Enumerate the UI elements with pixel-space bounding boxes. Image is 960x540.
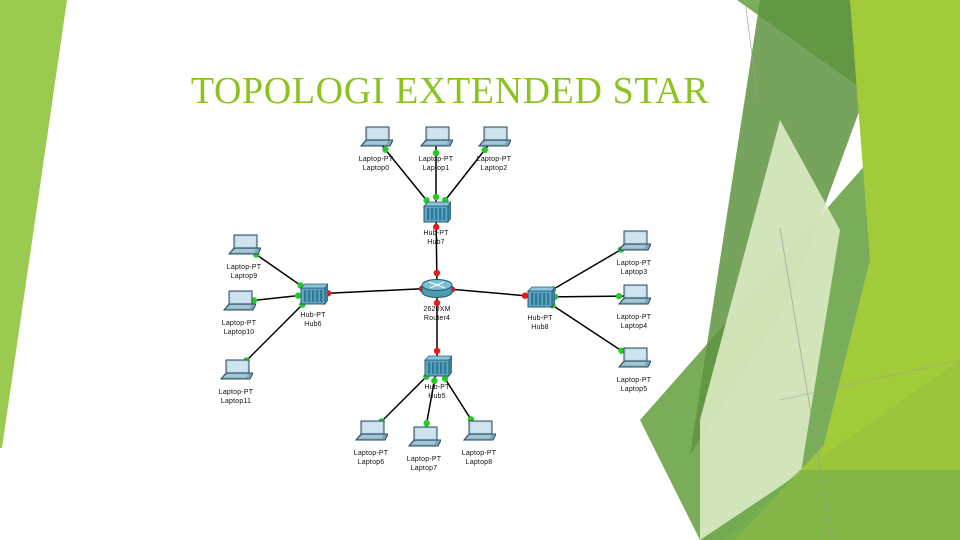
bottom-right-green-polygon	[700, 360, 960, 540]
laptop-icon	[462, 415, 496, 449]
device-model-label: Hub-PT	[497, 315, 583, 324]
device-model-label: Laptop-PT	[201, 264, 287, 273]
device-name-label: Laptop10	[196, 329, 282, 338]
device-name-label: Hub8	[497, 324, 583, 333]
laptop-icon	[617, 342, 651, 376]
device-node-laptop5[interactable]: Laptop-PTLaptop5	[591, 342, 677, 394]
device-name-label: Laptop4	[591, 323, 677, 332]
bottom-edge-green-polygon	[725, 470, 960, 540]
device-model-label: 2620XM	[394, 306, 480, 315]
laptop-icon	[617, 279, 651, 313]
device-node-laptop3[interactable]: Laptop-PTLaptop3	[591, 225, 677, 277]
device-model-label: Hub-PT	[270, 312, 356, 321]
device-model-label: Laptop-PT	[193, 389, 279, 398]
bottom-right-light-polygon	[735, 300, 960, 540]
device-name-label: Laptop11	[193, 398, 279, 407]
hub-icon	[422, 349, 452, 383]
device-model-label: Hub-PT	[394, 384, 480, 393]
device-name-label: Hub6	[270, 321, 356, 330]
device-name-label: Hub5	[394, 393, 480, 402]
device-model-label: Laptop-PT	[591, 260, 677, 269]
laptop-icon	[419, 121, 453, 155]
device-node-laptop4[interactable]: Laptop-PTLaptop4	[591, 279, 677, 331]
device-model-label: Laptop-PT	[591, 314, 677, 323]
hub-icon	[421, 195, 451, 229]
device-model-label: Laptop-PT	[436, 450, 522, 459]
laptop-icon	[227, 229, 261, 263]
thin-accent-line-2	[780, 228, 832, 540]
laptop-icon	[219, 354, 253, 388]
device-node-hub6[interactable]: Hub-PTHub6	[270, 277, 356, 329]
device-node-laptop2[interactable]: Laptop-PTLaptop2	[451, 121, 537, 173]
device-name-label: Laptop2	[451, 165, 537, 174]
device-node-router4[interactable]: 2620XMRouter4	[394, 271, 480, 323]
device-name-label: Laptop3	[591, 269, 677, 278]
device-node-laptop9[interactable]: Laptop-PTLaptop9	[201, 229, 287, 281]
device-node-hub8[interactable]: Hub-PTHub8	[497, 280, 583, 332]
slide-canvas: TOPOLOGI EXTENDED STAR Laptop-PTLaptop0L…	[0, 0, 960, 540]
device-name-label: Laptop8	[436, 459, 522, 468]
right-dark-green-polygon	[690, 0, 900, 455]
hub-icon	[525, 280, 555, 314]
right-pale-green-polygon	[700, 120, 840, 540]
device-model-label: Laptop-PT	[451, 156, 537, 165]
left-green-wedge	[0, 0, 67, 448]
device-name-label: Router4	[394, 315, 480, 324]
device-node-hub7[interactable]: Hub-PTHub7	[393, 195, 479, 247]
laptop-icon	[477, 121, 511, 155]
device-node-hub5[interactable]: Hub-PTHub5	[394, 349, 480, 401]
thin-accent-line-3	[780, 360, 960, 400]
laptop-icon	[359, 121, 393, 155]
laptop-icon	[617, 225, 651, 259]
device-name-label: Laptop5	[591, 386, 677, 395]
device-model-label: Hub-PT	[393, 230, 479, 239]
device-name-label: Hub7	[393, 239, 479, 248]
device-node-laptop8[interactable]: Laptop-PTLaptop8	[436, 415, 522, 467]
device-node-laptop11[interactable]: Laptop-PTLaptop11	[193, 354, 279, 406]
laptop-icon	[222, 285, 256, 319]
hub-icon	[298, 277, 328, 311]
device-model-label: Laptop-PT	[591, 377, 677, 386]
router-icon	[417, 271, 457, 305]
